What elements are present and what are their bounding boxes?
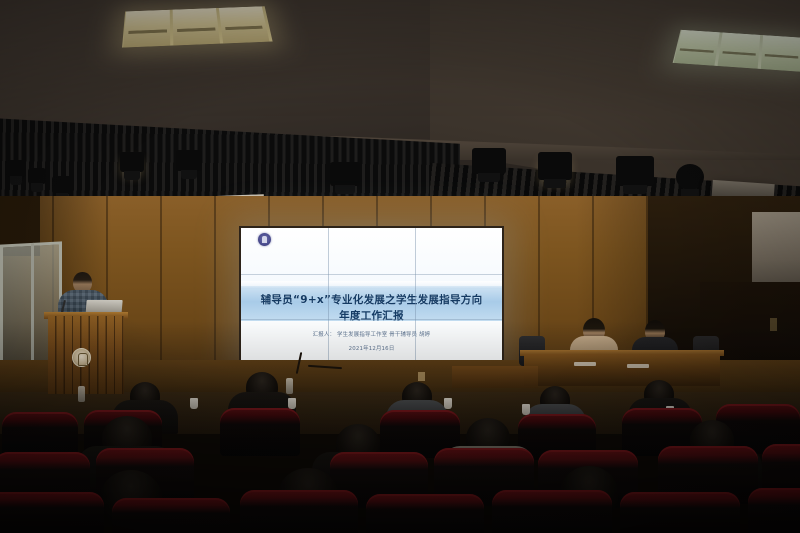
stage-spotlight-can [472, 148, 506, 174]
auditorium-seat[interactable] [220, 408, 300, 456]
door-mullion [31, 243, 34, 378]
institution-seal [72, 348, 91, 367]
auditorium-seat[interactable] [620, 492, 740, 533]
stage-spotlight-can [616, 156, 654, 186]
auditorium-seat[interactable] [748, 488, 800, 533]
stage-spotlight-can [676, 164, 704, 190]
conference-hall-photo: 辅导员“9+x”专业化发展之学生发展指导方向 年度工作汇报 汇报人： 学生发展指… [0, 0, 800, 533]
auditorium-seat[interactable] [366, 494, 484, 533]
documents-on-table [574, 362, 596, 366]
video-wall-frame [239, 226, 504, 367]
documents-on-table [627, 364, 649, 368]
auditorium-seat[interactable] [0, 492, 104, 533]
water-bottle [286, 378, 293, 394]
wall-outlet[interactable] [418, 372, 425, 381]
stage-spotlight-can [28, 168, 46, 184]
head-table [524, 354, 720, 386]
stage-spotlight-can [120, 152, 144, 172]
secondary-table [452, 366, 538, 388]
auditorium-seat[interactable] [240, 490, 358, 533]
water-bottle [78, 386, 85, 402]
stage-spotlight-can [6, 160, 26, 177]
led-video-wall[interactable]: 辅导员“9+x”专业化发展之学生发展指导方向 年度工作汇报 汇报人： 学生发展指… [241, 228, 502, 365]
stage-spotlight-can [176, 150, 202, 171]
stage-spotlight-can [330, 162, 360, 186]
stage-spotlight-can [538, 152, 572, 180]
auditorium-seat[interactable] [112, 498, 230, 533]
recessed-fluorescent-troffer-left [122, 6, 273, 47]
paper-cup [444, 398, 452, 409]
paper-cup [190, 398, 198, 409]
auditorium-seat[interactable] [492, 490, 612, 533]
door-handle[interactable] [770, 318, 777, 331]
stage-spotlight-can [52, 176, 72, 194]
paper-cup [288, 398, 296, 409]
